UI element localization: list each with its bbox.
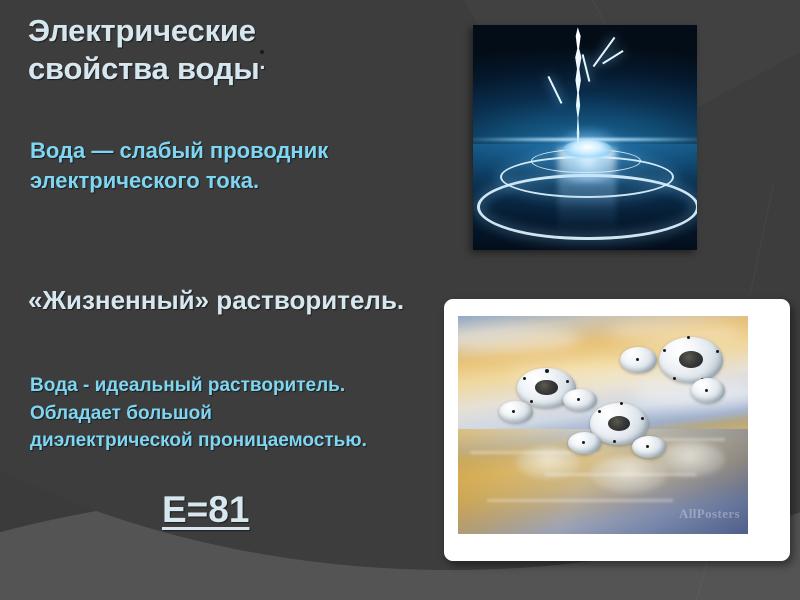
water-molecule xyxy=(620,333,742,416)
solvent-line-1: Вода - идеальный растворитель. xyxy=(30,372,452,400)
bond-dot xyxy=(613,440,616,443)
lightning-splash-crown xyxy=(563,140,612,158)
bond-dot xyxy=(577,398,580,401)
bond-dot xyxy=(530,400,533,403)
bond-dot xyxy=(523,377,526,380)
image-watermark: AllPosters xyxy=(679,506,740,522)
conductor-paragraph: Вода — слабый проводник электрического т… xyxy=(30,136,430,196)
page-title-period: . xyxy=(260,50,264,54)
bond-dot xyxy=(582,441,585,444)
slide-canvas: Электрические свойства воды. Вода — слаб… xyxy=(0,0,800,600)
bond-dot xyxy=(636,358,639,361)
bond-dot xyxy=(673,377,676,380)
solvent-line-2: Обладает большой xyxy=(30,400,452,428)
bond-dot xyxy=(705,389,708,392)
molecules-photo: AllPosters xyxy=(458,316,748,534)
bond-dot xyxy=(641,417,644,420)
page-title: Электрические свойства воды. xyxy=(28,12,438,88)
hydrogen-atom xyxy=(632,436,666,458)
bond-dot xyxy=(687,336,690,339)
sea-streak xyxy=(487,499,673,502)
page-title-line-1: Электрические xyxy=(28,13,256,48)
solvent-paragraph: Вода - идеальный растворитель. Обладает … xyxy=(30,372,452,455)
lightning-photo xyxy=(473,25,697,250)
bond-dot xyxy=(598,410,601,413)
hydrogen-atom xyxy=(499,401,533,424)
bond-dot xyxy=(663,349,666,352)
bond-dot xyxy=(512,410,515,413)
hydrogen-atom xyxy=(691,378,725,403)
bond-dot xyxy=(545,369,549,373)
text-column: Электрические свойства воды. Вода — слаб… xyxy=(0,0,452,600)
bond-dot xyxy=(646,445,649,448)
dielectric-constant-formula: E=81 xyxy=(162,489,249,531)
solvent-heading: «Жизненный» растворитель. xyxy=(28,283,438,318)
oxygen-atom xyxy=(659,337,722,383)
molecules-photo-frame: AllPosters xyxy=(444,299,790,561)
hydrogen-atom xyxy=(568,432,601,454)
solvent-line-3: диэлектрической проницаемостью. xyxy=(30,427,452,455)
page-title-line-2: свойства воды xyxy=(28,51,260,86)
bond-dot xyxy=(716,350,719,353)
bond-dot xyxy=(566,380,569,383)
hydrogen-atom xyxy=(620,347,657,374)
